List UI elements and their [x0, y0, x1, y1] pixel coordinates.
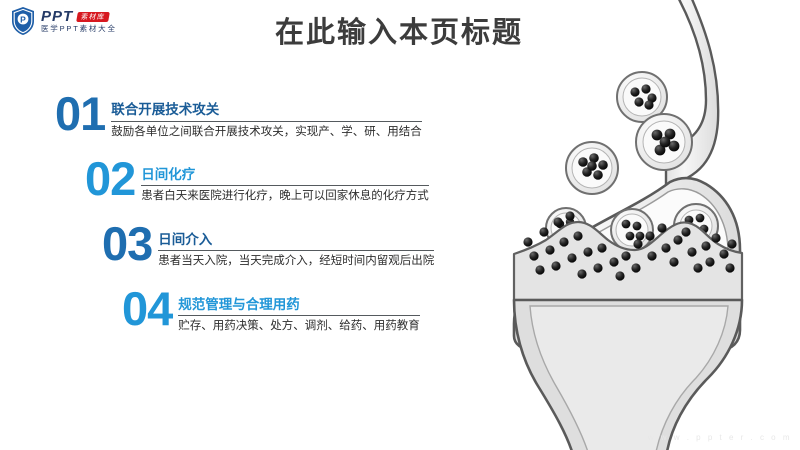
- item-divider: [178, 315, 420, 316]
- item-description: 贮存、用药决策、处方、调剂、给药、用药教育: [178, 319, 420, 333]
- list-item[interactable]: 01 联合开展技术攻关 鼓励各单位之间联合开展技术攻关，实现产、学、研、用结合: [55, 92, 520, 139]
- item-number: 04: [122, 287, 172, 330]
- item-body: 联合开展技术攻关 鼓励各单位之间联合开展技术攻关，实现产、学、研、用结合: [111, 92, 422, 139]
- item-description: 患者白天来医院进行化疗，晚上可以回家休息的化疗方式: [141, 189, 429, 203]
- watermark: w w w . p p t e r . c o m: [648, 433, 792, 442]
- item-divider: [158, 250, 434, 251]
- item-description: 患者当天入院，当天完成介入，经短时间内留观后出院: [158, 254, 434, 268]
- item-heading: 联合开展技术攻关: [111, 102, 422, 118]
- shield-icon: P: [10, 6, 36, 36]
- page-title: 在此输入本页标题: [275, 18, 523, 50]
- numbered-item-list: 01 联合开展技术攻关 鼓励各单位之间联合开展技术攻关，实现产、学、研、用结合 …: [0, 92, 520, 352]
- item-divider: [111, 121, 422, 122]
- item-body: 日间介入 患者当天入院，当天完成介入，经短时间内留观后出院: [158, 222, 434, 269]
- item-number: 03: [102, 222, 152, 265]
- logo-tagline: 医学PPT素材大全: [41, 25, 117, 33]
- site-logo[interactable]: P PPT 素材库 医学PPT素材大全: [10, 6, 117, 36]
- list-item[interactable]: 03 日间介入 患者当天入院，当天完成介入，经短时间内留观后出院: [102, 222, 520, 269]
- svg-text:P: P: [20, 15, 26, 25]
- item-divider: [141, 185, 429, 186]
- item-heading: 日间化疗: [141, 167, 429, 183]
- item-number: 02: [85, 157, 135, 200]
- item-body: 规范管理与合理用药 贮存、用药决策、处方、调剂、给药、用药教育: [178, 287, 420, 334]
- list-item[interactable]: 04 规范管理与合理用药 贮存、用药决策、处方、调剂、给药、用药教育: [122, 287, 520, 334]
- list-item[interactable]: 02 日间化疗 患者白天来医院进行化疗，晚上可以回家休息的化疗方式: [85, 157, 520, 204]
- neurotransmitter-dots: [523, 211, 736, 280]
- logo-badge: 素材库: [76, 12, 110, 22]
- item-body: 日间化疗 患者白天来医院进行化疗，晚上可以回家休息的化疗方式: [141, 157, 429, 204]
- item-number: 01: [55, 92, 105, 135]
- logo-text-block: PPT 素材库 医学PPT素材大全: [41, 9, 117, 33]
- logo-brand: PPT: [41, 9, 73, 24]
- vesicle-group: [546, 72, 718, 251]
- item-description: 鼓励各单位之间联合开展技术攻关，实现产、学、研、用结合: [111, 125, 422, 139]
- item-heading: 规范管理与合理用药: [178, 297, 420, 313]
- item-heading: 日间介入: [158, 232, 434, 248]
